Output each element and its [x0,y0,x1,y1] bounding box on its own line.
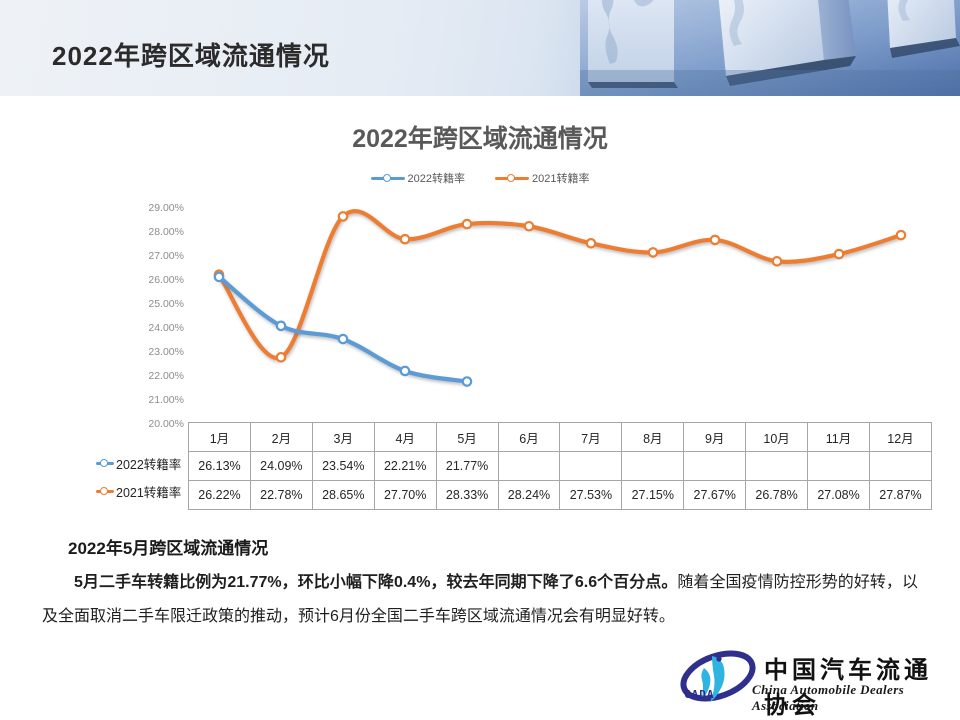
table-row-header-2022: 2022转籍率 [96,449,186,477]
table-column-header: 12月 [869,423,931,452]
table-cell: 27.67% [684,481,746,510]
table-cell: 26.13% [189,452,251,481]
section-paragraph: 5月二手车转籍比例为21.77%，环比小幅下降0.4%，较去年同期下降了6.6个… [42,566,918,634]
table-cell [869,452,931,481]
table-cell: 27.08% [808,481,870,510]
chart-data-point[interactable] [215,273,223,281]
chart-data-point[interactable] [897,231,905,239]
table-cell: 27.70% [374,481,436,510]
table-column-header: 9月 [684,423,746,452]
table-cell: 26.22% [189,481,251,510]
section-sub-heading: 2022年5月跨区域流通情况 [68,534,268,559]
cada-logo: CADA 中国汽车流通协会 China Automobile Dealers A… [678,648,946,710]
table-row-header-label-2021: 2021转籍率 [116,482,181,501]
table-row-header-2021: 2021转籍率 [96,477,186,505]
table-column-header: 8月 [622,423,684,452]
paragraph-bold-lead: 5月二手车转籍比例为21.77%，环比小幅下降0.4%，较去年同期下降了6.6个… [74,574,677,591]
table-cell [808,452,870,481]
table-column-header: 11月 [808,423,870,452]
table-cell: 27.15% [622,481,684,510]
table-cell [498,452,560,481]
monthly-rate-table: 1月2月3月4月5月6月7月8月9月10月11月12月 26.13%24.09%… [188,422,932,510]
slide-header: 2022年跨区域流通情况 [0,0,960,96]
cada-logo-english: China Automobile Dealers Association [752,682,946,714]
chart-data-point[interactable] [649,248,657,256]
page-title: 2022年跨区域流通情况 [52,36,330,73]
table-cell [684,452,746,481]
table-column-header: 1月 [189,423,251,452]
table-column-header: 10月 [746,423,808,452]
chart-data-point[interactable] [587,239,595,247]
table-cell: 27.53% [560,481,622,510]
table-cell [622,452,684,481]
table-header-row: 1月2月3月4月5月6月7月8月9月10月11月12月 [189,423,932,452]
chart-data-point[interactable] [339,335,347,343]
legend-marker-2022-row-icon [96,457,114,469]
chart-data-point[interactable] [711,236,719,244]
chart-data-point[interactable] [835,250,843,258]
table-cell: 28.24% [498,481,560,510]
chart-data-point[interactable] [277,322,285,330]
table-column-header: 4月 [374,423,436,452]
table-column-header: 7月 [560,423,622,452]
chart-line-2022转籍率 [219,277,467,382]
table-cell [560,452,622,481]
chart-data-point[interactable] [463,220,471,228]
table-cell: 28.33% [436,481,498,510]
table-column-header: 3月 [312,423,374,452]
table-body: 26.13%24.09%23.54%22.21%21.77%26.22%22.7… [189,452,932,510]
chart-data-point[interactable] [773,257,781,265]
chart-data-point[interactable] [401,367,409,375]
chart-data-point[interactable] [339,212,347,220]
blue-cubes-world-map-image [580,0,960,96]
table-row-header-label-2022: 2022转籍率 [116,454,181,473]
table-cell: 24.09% [250,452,312,481]
table-cell: 23.54% [312,452,374,481]
table-row: 26.22%22.78%28.65%27.70%28.33%28.24%27.5… [189,481,932,510]
table-cell [746,452,808,481]
cada-abbr: CADA [684,688,715,701]
table-cell: 28.65% [312,481,374,510]
table-cell: 27.87% [869,481,931,510]
table-column-header: 6月 [498,423,560,452]
chart-data-point[interactable] [463,377,471,385]
chart-data-point[interactable] [277,353,285,361]
chart-data-point[interactable] [525,222,533,230]
table-column-header: 5月 [436,423,498,452]
table-column-header: 2月 [250,423,312,452]
table-cell: 22.21% [374,452,436,481]
table-cell: 21.77% [436,452,498,481]
chart-data-point[interactable] [401,235,409,243]
table-cell: 26.78% [746,481,808,510]
table-cell: 22.78% [250,481,312,510]
table-row: 26.13%24.09%23.54%22.21%21.77% [189,452,932,481]
legend-marker-2021-row-icon [96,485,114,497]
